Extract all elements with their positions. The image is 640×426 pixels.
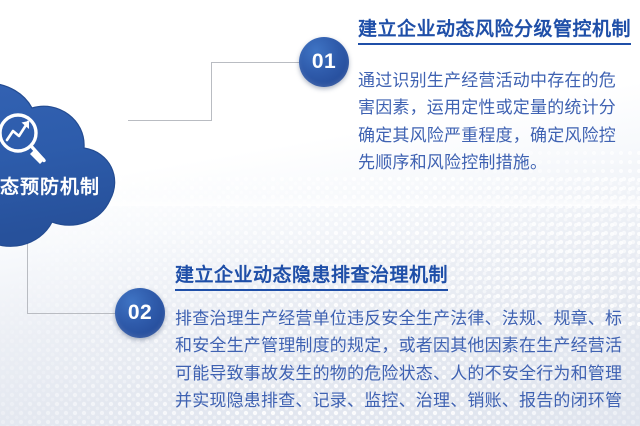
step-badge-01[interactable]: 01	[299, 37, 349, 87]
cloud-label: 态预防机制	[0, 178, 112, 197]
item-01-body-line: 确定其风险严重程度，确定风险控	[358, 122, 640, 150]
step-badge-02[interactable]: 02	[115, 288, 165, 338]
item-02-body-line: 和安全生产管理制度的规定，或者因其他因素在生产经营活	[175, 332, 640, 360]
item-02-body-line: 可能导致事故发生的物的危险状态、人的不安全行为和管理	[175, 360, 640, 388]
item-02-body-line: 并实现隐患排查、记录、监控、治理、销账、报告的闭环管	[175, 387, 640, 415]
slide-canvas: 态预防机制 01 建立企业动态风险分级管控机制 通过识别生产经营活动中存在的危 …	[0, 0, 640, 426]
item-01-body: 通过识别生产经营活动中存在的危 害因素，运用定性或定量的统计分 确定其风险严重程…	[358, 67, 640, 177]
connector-to-item-01-upper	[211, 62, 303, 63]
item-02-heading: 建立企业动态隐患排查治理机制	[175, 264, 448, 291]
item-02-body: 排查治理生产经营单位违反安全生产法律、法规、规章、标 和安全生产管理制度的规定，…	[175, 305, 640, 415]
connector-to-item-01-vertical	[211, 62, 212, 121]
item-02-block: 建立企业动态隐患排查治理机制 排查治理生产经营单位违反安全生产法律、法规、规章、…	[175, 264, 640, 415]
item-01-heading: 建立企业动态风险分级管控机制	[358, 18, 631, 45]
item-01-block: 建立企业动态风险分级管控机制 通过识别生产经营活动中存在的危 害因素，运用定性或…	[358, 18, 640, 177]
magnifier-chart-icon	[0, 110, 52, 172]
connector-to-item-02	[27, 313, 119, 314]
item-01-body-line: 害因素，运用定性或定量的统计分	[358, 94, 640, 122]
item-01-body-line: 通过识别生产经营活动中存在的危	[358, 67, 640, 95]
item-02-body-line: 排查治理生产经营单位违反安全生产法律、法规、规章、标	[175, 305, 640, 333]
item-01-body-line: 先顺序和风险控制措施。	[358, 149, 640, 177]
